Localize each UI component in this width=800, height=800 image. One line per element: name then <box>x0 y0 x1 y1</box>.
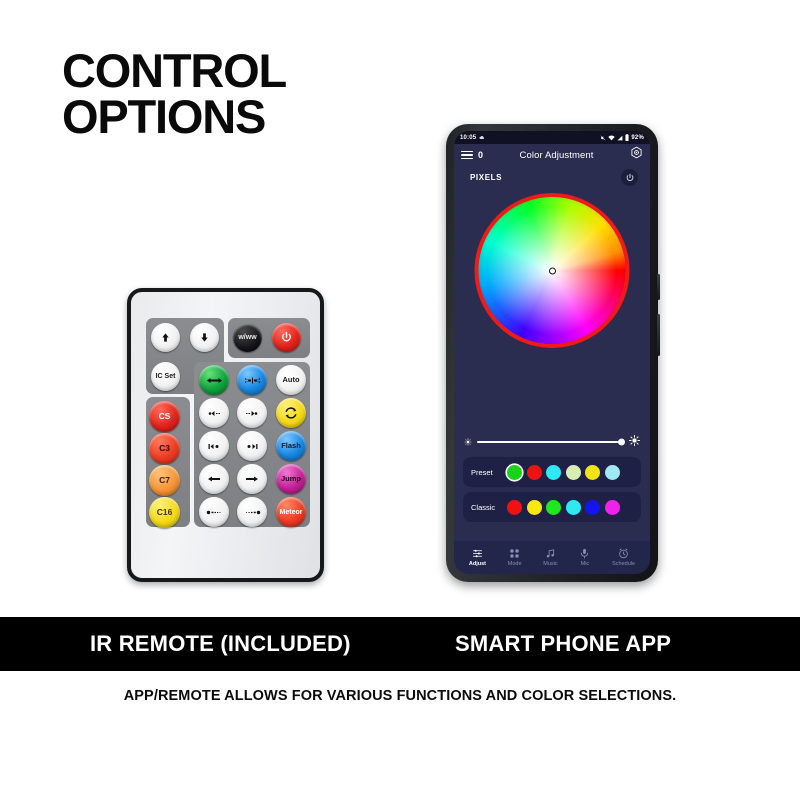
nav-item-label: Adjust <box>469 561 486 567</box>
nav-item-label: Mode <box>508 561 522 567</box>
classic-swatch[interactable] <box>585 500 600 515</box>
classic-swatch[interactable] <box>507 500 522 515</box>
remote-button-prev[interactable] <box>199 431 229 461</box>
remote-button-jump-label: Jump <box>281 475 301 483</box>
remote-button-w-ww[interactable]: w/ww <box>233 323 262 352</box>
remote-button-brightness-up[interactable] <box>151 323 180 352</box>
remote-button-jump[interactable]: Jump <box>276 464 306 494</box>
signal-icon <box>617 135 623 141</box>
arrow-up-icon <box>160 332 171 343</box>
status-time: 10:05 <box>460 135 476 141</box>
color-wheel[interactable] <box>475 193 630 348</box>
battery-icon <box>625 134 629 141</box>
tail-left-icon <box>206 509 223 516</box>
brightness-knob[interactable] <box>618 439 625 446</box>
preset-swatch[interactable] <box>507 465 522 480</box>
remote-button-brightness-down[interactable] <box>190 323 219 352</box>
remote-button-expand[interactable] <box>199 365 229 395</box>
footnote-text: APP/REMOTE ALLOWS FOR VARIOUS FUNCTIONS … <box>0 688 800 704</box>
next-icon <box>244 442 260 451</box>
preset-color-row: Preset <box>463 457 641 487</box>
power-icon <box>625 173 635 183</box>
page-title-line-1: CONTROL <box>62 48 402 94</box>
remote-button-cs-label: CS <box>159 412 171 421</box>
phone-power-button[interactable] <box>657 314 660 356</box>
remote-button-tail-left[interactable] <box>199 497 229 527</box>
remote-button-speed-down[interactable] <box>199 398 229 428</box>
classic-color-row: Classic <box>463 492 641 522</box>
nav-item-label: Schedule <box>612 561 635 567</box>
arrow-left-icon <box>206 475 222 483</box>
speed-up-icon <box>244 409 260 418</box>
clock-icon <box>618 548 629 559</box>
pixels-label: PIXELS <box>470 173 502 182</box>
remote-button-cycle[interactable] <box>276 398 306 428</box>
battery-percent: 92% <box>631 135 644 141</box>
grid-icon <box>509 548 520 559</box>
contract-arrows-icon <box>244 375 261 386</box>
remote-button-tail-right[interactable] <box>237 497 267 527</box>
music-note-icon <box>545 548 556 559</box>
nav-item-schedule[interactable]: Schedule <box>612 548 635 567</box>
nav-item-mic[interactable]: Mic <box>579 548 590 567</box>
remote-button-speed-up[interactable] <box>237 398 267 428</box>
speed-down-icon <box>206 409 222 418</box>
remote-button-c7[interactable]: C7 <box>149 465 180 496</box>
brightness-high-icon <box>629 433 640 451</box>
power-icon <box>280 331 293 344</box>
remote-button-c16-label: C16 <box>157 508 173 517</box>
remote-button-c7-label: C7 <box>159 476 170 485</box>
classic-label: Classic <box>471 503 501 512</box>
brightness-low-icon <box>464 433 472 451</box>
ir-remote: w/ww IC Set Auto CS C3 C7 C <box>127 288 324 582</box>
app-bar-title: Color Adjustment <box>488 150 625 161</box>
status-bar: 10:05 92% <box>454 131 650 144</box>
remote-button-ic-set[interactable]: IC Set <box>151 362 180 391</box>
remote-button-left[interactable] <box>199 464 229 494</box>
nav-item-label: Mic <box>581 561 590 567</box>
caption-band: IR REMOTE (INCLUDED) SMART PHONE APP <box>0 617 800 671</box>
nav-item-adjust[interactable]: Adjust <box>469 548 486 567</box>
remote-button-flash[interactable]: Flash <box>276 431 306 461</box>
app-power-toggle[interactable] <box>621 169 638 186</box>
phone-volume-button[interactable] <box>657 274 660 300</box>
page-title: CONTROL OPTIONS <box>62 48 402 140</box>
weather-icon <box>479 135 485 141</box>
prev-icon <box>206 442 222 451</box>
remote-button-meteor-label: Meteor <box>280 509 303 516</box>
expand-arrows-icon <box>206 375 223 386</box>
nav-item-music[interactable]: Music <box>543 548 557 567</box>
preset-swatch[interactable] <box>605 465 620 480</box>
preset-swatch[interactable] <box>546 465 561 480</box>
preset-swatches <box>507 465 620 480</box>
remote-button-contract[interactable] <box>237 365 267 395</box>
settings-gear-icon[interactable] <box>630 146 643 164</box>
remote-button-c3-label: C3 <box>159 444 170 453</box>
wifi-icon <box>608 135 615 141</box>
preset-swatch[interactable] <box>585 465 600 480</box>
remote-button-auto[interactable]: Auto <box>276 365 306 395</box>
cycle-icon <box>284 406 298 420</box>
mute-icon <box>600 135 606 141</box>
classic-swatch[interactable] <box>605 500 620 515</box>
smart-phone: 10:05 92% <box>446 124 658 582</box>
device-count-badge: 0 <box>478 150 483 160</box>
remote-button-cs[interactable]: CS <box>149 401 180 432</box>
phone-screen: 10:05 92% <box>454 131 650 574</box>
hamburger-menu-icon[interactable] <box>461 151 473 160</box>
microphone-icon <box>579 548 590 559</box>
brightness-slider[interactable] <box>464 433 640 451</box>
preset-label: Preset <box>471 468 501 477</box>
classic-swatch[interactable] <box>527 500 542 515</box>
remote-button-meteor[interactable]: Meteor <box>276 497 306 527</box>
preset-swatch[interactable] <box>527 465 542 480</box>
sliders-icon <box>472 548 483 559</box>
remote-button-flash-label: Flash <box>281 442 301 450</box>
preset-swatch[interactable] <box>566 465 581 480</box>
remote-button-w-ww-label: w/ww <box>238 334 256 341</box>
arrow-right-icon <box>244 475 260 483</box>
color-wheel-gradient[interactable] <box>475 193 630 348</box>
remote-button-auto-label: Auto <box>282 376 299 384</box>
classic-swatch[interactable] <box>566 500 581 515</box>
arrow-down-icon <box>199 332 210 343</box>
remote-button-c16[interactable]: C16 <box>149 497 180 528</box>
page-title-line-2: OPTIONS <box>62 94 402 140</box>
bottom-navigation: AdjustModeMusicMicSchedule <box>454 541 650 574</box>
remote-button-next[interactable] <box>237 431 267 461</box>
classic-swatch[interactable] <box>546 500 561 515</box>
tail-right-icon <box>244 509 261 516</box>
remote-button-c3[interactable]: C3 <box>149 433 180 464</box>
caption-ir-remote: IR REMOTE (INCLUDED) <box>90 631 351 657</box>
classic-swatches <box>507 500 620 515</box>
color-wheel-cursor[interactable] <box>549 267 556 274</box>
remote-button-ic-set-label: IC Set <box>156 373 176 380</box>
app-bar: 0 Color Adjustment <box>454 144 650 166</box>
nav-item-label: Music <box>543 561 557 567</box>
brightness-track[interactable] <box>477 441 624 444</box>
nav-item-mode[interactable]: Mode <box>508 548 522 567</box>
caption-smart-phone-app: SMART PHONE APP <box>455 631 671 657</box>
remote-button-power[interactable] <box>272 323 301 352</box>
remote-button-right[interactable] <box>237 464 267 494</box>
